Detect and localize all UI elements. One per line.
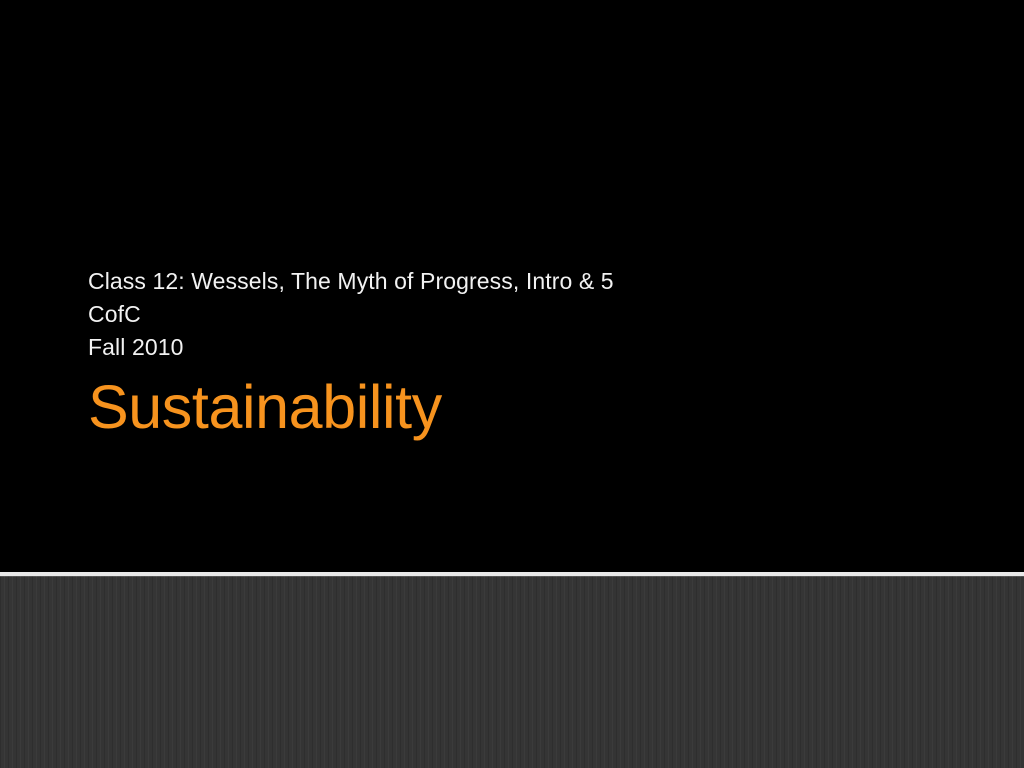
title-slide: Class 12: Wessels, The Myth of Progress,… xyxy=(0,0,1024,768)
subtitle-line-term: Fall 2010 xyxy=(88,331,948,364)
footer-band-pinstripe-texture xyxy=(0,576,1024,768)
subtitle-line-institution: CofC xyxy=(88,298,948,331)
page-title: Sustainability xyxy=(88,372,948,442)
slide-subtitle: Class 12: Wessels, The Myth of Progress,… xyxy=(88,265,948,364)
title-text-block: Class 12: Wessels, The Myth of Progress,… xyxy=(88,265,948,442)
subtitle-line-course: Class 12: Wessels, The Myth of Progress,… xyxy=(88,265,948,298)
footer-band xyxy=(0,576,1024,768)
footer-band-top-highlight xyxy=(0,576,1024,577)
